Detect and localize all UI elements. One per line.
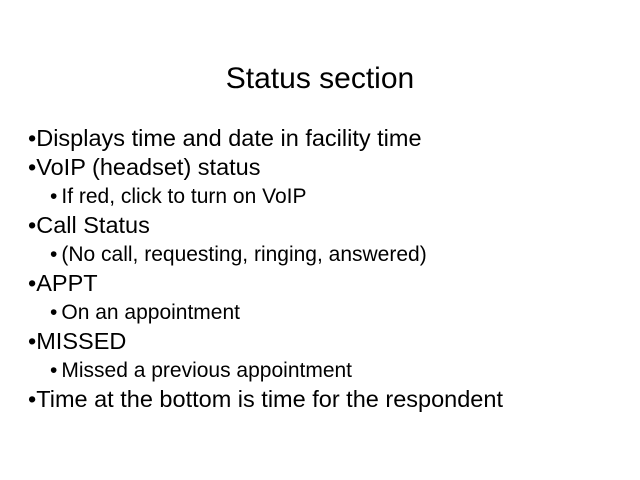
bullet-point-icon: • (28, 270, 36, 296)
bullet-item: •Call Status (28, 211, 628, 240)
bullet-point-icon: • (28, 125, 36, 151)
bullet-item-label: Time at the bottom is time for the respo… (36, 386, 503, 412)
bullet-item-label: On an appointment (57, 301, 240, 324)
slide-title: Status section (0, 61, 640, 97)
bullet-point-icon: • (28, 386, 36, 412)
bullet-item: •(No call, requesting, ringing, answered… (50, 240, 628, 269)
bullet-item-label: Call Status (36, 212, 150, 238)
bullet-point-icon: • (28, 328, 36, 354)
slide: Status section •Displays time and date i… (0, 0, 640, 480)
bullet-item-label: (No call, requesting, ringing, answered) (57, 243, 426, 266)
bullet-item: •If red, click to turn on VoIP (50, 182, 628, 211)
bullet-item-label: Displays time and date in facility time (36, 125, 421, 151)
bullet-item: •VoIP (headset) status (28, 153, 628, 182)
bullet-item-label: VoIP (headset) status (36, 154, 260, 180)
bullet-item: •APPT (28, 269, 628, 298)
bullet-item: •Displays time and date in facility time (28, 124, 628, 153)
bullet-item-label: If red, click to turn on VoIP (57, 185, 306, 208)
bullet-item: •On an appointment (50, 298, 628, 327)
bullet-item: •Missed a previous appointment (50, 356, 628, 385)
bullet-item: •Time at the bottom is time for the resp… (28, 385, 628, 414)
bullet-list: •Displays time and date in facility time… (28, 124, 628, 414)
bullet-item: •MISSED (28, 327, 628, 356)
bullet-point-icon: • (28, 212, 36, 238)
bullet-point-icon: • (28, 154, 36, 180)
bullet-item-label: APPT (36, 270, 97, 296)
bullet-item-label: MISSED (36, 328, 126, 354)
bullet-item-label: Missed a previous appointment (57, 359, 352, 382)
